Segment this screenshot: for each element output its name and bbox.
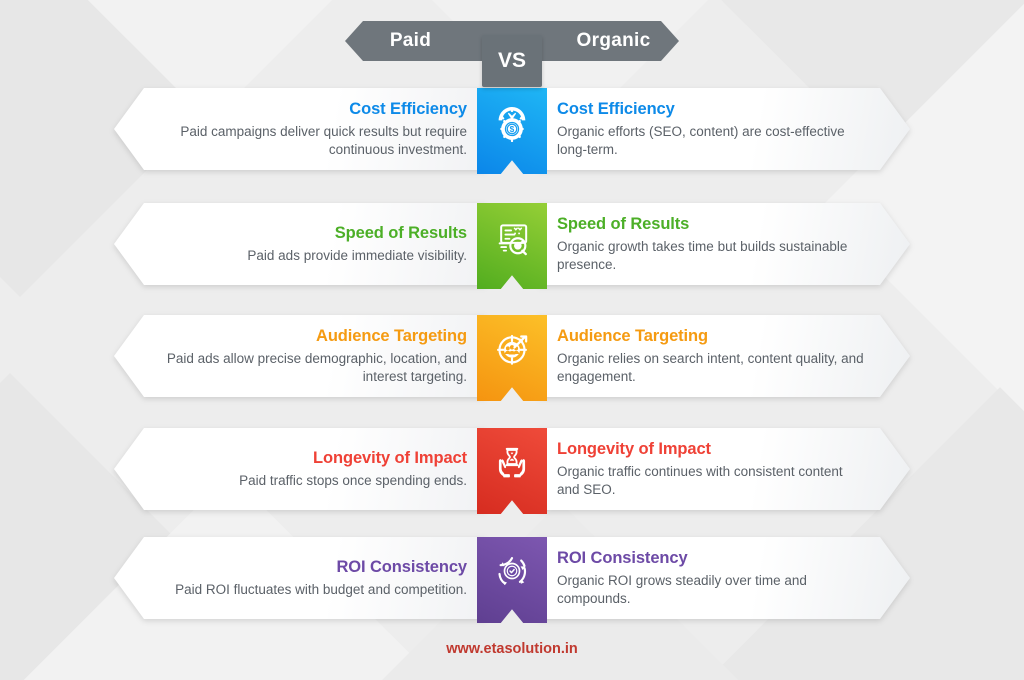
organic-panel[interactable]: ROI Consistency Organic ROI grows steadi… — [539, 537, 910, 619]
vs-badge: VS — [482, 35, 542, 87]
comparison-row: ROI Consistency Paid ROI fluctuates with… — [0, 537, 1024, 623]
footer-url[interactable]: www.etasolution.in — [0, 641, 1024, 657]
paid-panel-description: Paid campaigns deliver quick results but… — [160, 123, 467, 159]
svg-text:$: $ — [510, 124, 515, 134]
longevity-of-impact-hourglass-hands-icon — [477, 442, 547, 482]
organic-panel-title: Longevity of Impact — [557, 439, 864, 460]
paid-panel-title: ROI Consistency — [160, 557, 467, 578]
paid-panel-title: Longevity of Impact — [160, 448, 467, 469]
cost-efficiency-gear-dollar-icon-badge: $ — [477, 88, 547, 174]
paid-panel-description: Paid traffic stops once spending ends. — [160, 472, 467, 490]
organic-panel-description: Organic ROI grows steadily over time and… — [557, 572, 864, 608]
paid-panel[interactable]: ROI Consistency Paid ROI fluctuates with… — [114, 537, 485, 619]
organic-panel-description: Organic relies on search intent, content… — [557, 350, 864, 386]
audience-targeting-target-people-icon — [477, 329, 547, 369]
infographic-page: Paid Organic VS Cost Efficiency Paid cam… — [0, 0, 1024, 680]
cost-efficiency-gear-dollar-icon: $ — [477, 102, 547, 142]
audience-targeting-target-people-icon-badge — [477, 315, 547, 401]
organic-panel-title: Speed of Results — [557, 214, 864, 235]
paid-panel-title: Audience Targeting — [160, 326, 467, 347]
paid-panel[interactable]: Longevity of Impact Paid traffic stops o… — [114, 428, 485, 510]
organic-panel-title: Cost Efficiency — [557, 99, 864, 120]
paid-panel-description: Paid ads allow precise demographic, loca… — [160, 350, 467, 386]
header: Paid Organic VS — [0, 21, 1024, 69]
comparison-row: Speed of Results Paid ads provide immedi… — [0, 203, 1024, 289]
organic-panel[interactable]: Cost Efficiency Organic efforts (SEO, co… — [539, 88, 910, 170]
organic-panel-description: Organic traffic continues with consisten… — [557, 463, 864, 499]
organic-panel-title: ROI Consistency — [557, 548, 864, 569]
paid-panel[interactable]: Speed of Results Paid ads provide immedi… — [114, 203, 485, 285]
organic-panel-title: Audience Targeting — [557, 326, 864, 347]
paid-panel-title: Cost Efficiency — [160, 99, 467, 120]
paid-panel-title: Speed of Results — [160, 223, 467, 244]
organic-panel-description: Organic growth takes time but builds sus… — [557, 238, 864, 274]
comparison-row: Audience Targeting Paid ads allow precis… — [0, 315, 1024, 401]
speed-of-results-speedometer-document-icon-badge — [477, 203, 547, 289]
paid-panel-description: Paid ads provide immediate visibility. — [160, 247, 467, 265]
comparison-row: Longevity of Impact Paid traffic stops o… — [0, 428, 1024, 514]
paid-panel-description: Paid ROI fluctuates with budget and comp… — [160, 581, 467, 599]
organic-panel[interactable]: Longevity of Impact Organic traffic cont… — [539, 428, 910, 510]
comparison-row: Cost Efficiency Paid campaigns deliver q… — [0, 88, 1024, 174]
paid-panel[interactable]: Cost Efficiency Paid campaigns deliver q… — [114, 88, 485, 170]
paid-panel[interactable]: Audience Targeting Paid ads allow precis… — [114, 315, 485, 397]
roi-consistency-refresh-check-icon-badge — [477, 537, 547, 623]
organic-panel[interactable]: Audience Targeting Organic relies on sea… — [539, 315, 910, 397]
longevity-of-impact-hourglass-hands-icon-badge — [477, 428, 547, 514]
roi-consistency-refresh-check-icon — [477, 551, 547, 591]
speed-of-results-speedometer-document-icon — [477, 217, 547, 257]
organic-panel-description: Organic efforts (SEO, content) are cost-… — [557, 123, 864, 159]
organic-panel[interactable]: Speed of Results Organic growth takes ti… — [539, 203, 910, 285]
